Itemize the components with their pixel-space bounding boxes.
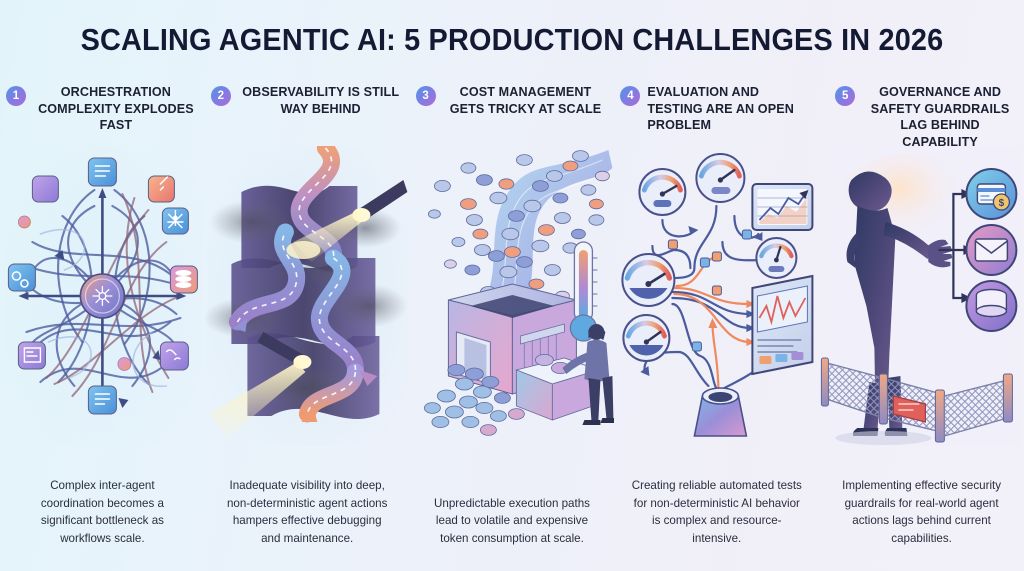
column-4-heading: EVALUATION AND TESTING ARE AN OPEN PROBL… bbox=[647, 84, 813, 134]
illustration-governance-guardrails: $ bbox=[819, 146, 1024, 446]
column-2-caption: Inadequate visibility into deep, non-det… bbox=[205, 477, 410, 547]
illustration-observability-roads bbox=[205, 146, 410, 446]
column-1-header: 1 ORCHESTRATION COMPLEXITY EXPLODES FAST bbox=[0, 84, 205, 134]
column-4-caption: Creating reliable automated tests for no… bbox=[614, 477, 819, 547]
column-5-caption: Implementing effective security guardrai… bbox=[819, 477, 1024, 547]
illustration-orchestration-network bbox=[0, 146, 205, 446]
number-badge-1: 1 bbox=[6, 86, 26, 106]
challenge-column-1: 1 ORCHESTRATION COMPLEXITY EXPLODES FAST bbox=[0, 84, 205, 571]
column-3-heading: COST MANAGEMENT GETS TRICKY AT SCALE bbox=[443, 84, 609, 117]
number-badge-3: 3 bbox=[416, 86, 436, 106]
column-1-heading: ORCHESTRATION COMPLEXITY EXPLODES FAST bbox=[33, 84, 199, 134]
column-3-caption: Unpredictable execution paths lead to vo… bbox=[410, 495, 615, 547]
column-1-caption: Complex inter-agent coordination becomes… bbox=[0, 477, 205, 547]
column-3-header: 3 COST MANAGEMENT GETS TRICKY AT SCALE bbox=[410, 84, 615, 117]
illustration-cost-coins-machine bbox=[410, 146, 615, 446]
svg-text:$: $ bbox=[999, 198, 1005, 209]
column-5-heading: GOVERNANCE AND SAFETY GUARDRAILS LAG BEH… bbox=[862, 84, 1018, 150]
challenge-column-3: 3 COST MANAGEMENT GETS TRICKY AT SCALE bbox=[410, 84, 615, 571]
challenge-column-5: 5 GOVERNANCE AND SAFETY GUARDRAILS LAG B… bbox=[819, 84, 1024, 571]
column-5-header: 5 GOVERNANCE AND SAFETY GUARDRAILS LAG B… bbox=[819, 84, 1024, 150]
number-badge-2: 2 bbox=[211, 86, 231, 106]
column-2-heading: OBSERVABILITY IS STILL WAY BEHIND bbox=[238, 84, 404, 117]
column-2-header: 2 OBSERVABILITY IS STILL WAY BEHIND bbox=[205, 84, 410, 117]
challenge-column-2: 2 OBSERVABILITY IS STILL WAY BEHIND bbox=[205, 84, 410, 571]
page-title: SCALING AGENTIC AI: 5 PRODUCTION CHALLEN… bbox=[36, 22, 988, 58]
column-4-header: 4 EVALUATION AND TESTING ARE AN OPEN PRO… bbox=[614, 84, 819, 134]
challenge-column-4: 4 EVALUATION AND TESTING ARE AN OPEN PRO… bbox=[614, 84, 819, 571]
infographic-canvas: SCALING AGENTIC AI: 5 PRODUCTION CHALLEN… bbox=[0, 0, 1024, 571]
number-badge-4: 4 bbox=[620, 86, 640, 106]
illustration-evaluation-gauges bbox=[614, 146, 819, 446]
columns-container: 1 ORCHESTRATION COMPLEXITY EXPLODES FAST bbox=[0, 84, 1024, 571]
number-badge-5: 5 bbox=[835, 86, 855, 106]
